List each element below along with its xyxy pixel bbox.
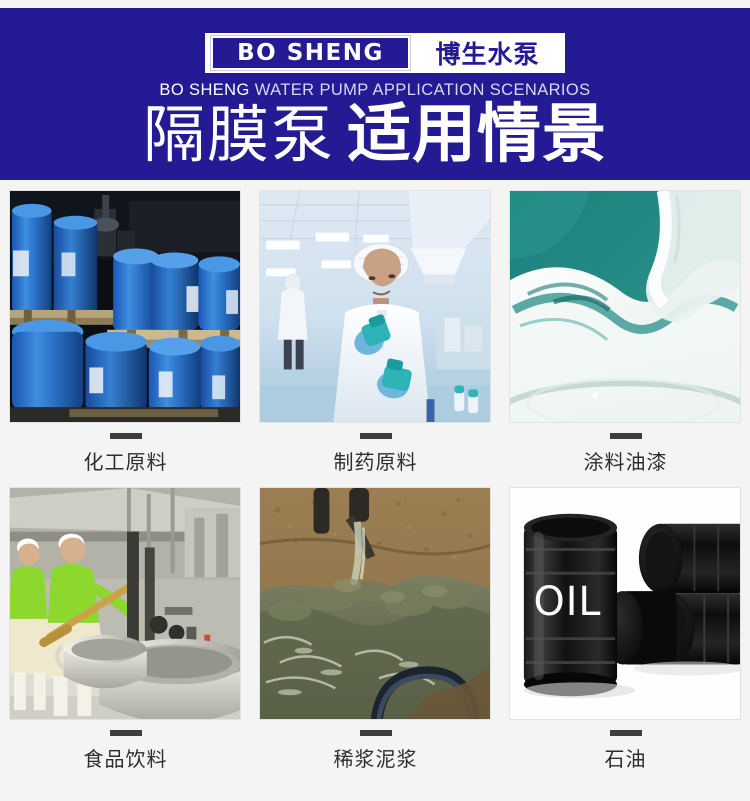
scenario-caption: 化工原料 xyxy=(9,446,242,475)
slurry-mud-tank-image xyxy=(259,487,491,720)
scenario-cell-slurry[interactable]: 稀浆泥浆 xyxy=(259,487,492,772)
headline-topic: 适用情景 xyxy=(347,98,607,172)
grid-row: 化工原料 xyxy=(0,190,750,475)
caption-accent-bar xyxy=(360,433,392,439)
application-scenario-grid: 化工原料 xyxy=(0,190,750,772)
caption-accent-bar xyxy=(610,730,642,736)
blue-chemical-drums-warehouse-image xyxy=(9,190,241,423)
headline-product-name: 隔膜泵 xyxy=(143,98,335,171)
scenario-caption: 食品饮料 xyxy=(9,743,242,772)
grid-row: 食品饮料 xyxy=(0,487,750,772)
caption-accent-bar xyxy=(610,433,642,439)
food-beverage-factory-workers-image xyxy=(9,487,241,720)
scenario-cell-food-beverage[interactable]: 食品饮料 xyxy=(9,487,242,772)
scenario-cell-petroleum[interactable]: OIL 石油 xyxy=(509,487,742,772)
caption-accent-bar xyxy=(360,730,392,736)
svg-text:OIL: OIL xyxy=(534,579,602,625)
scenario-caption: 稀浆泥浆 xyxy=(259,743,492,772)
black-oil-barrels-image: OIL xyxy=(509,487,741,720)
banner-subtitle-rest: WATER PUMP APPLICATION SCENARIOS xyxy=(250,81,591,99)
scenario-caption: 涂料油漆 xyxy=(509,446,742,475)
banner-headline: 隔膜泵适用情景 xyxy=(0,103,750,167)
teal-paint-swirl-image xyxy=(509,190,741,423)
logo-english-wrap: BO SHENG xyxy=(205,33,410,73)
header-banner: BO SHENG 博生水泵 BO SHENG WATER PUMP APPLIC… xyxy=(0,8,750,180)
pharmaceutical-worker-cleanroom-image xyxy=(259,190,491,423)
logo-chinese-text: 博生水泵 xyxy=(410,33,565,73)
caption-accent-bar xyxy=(110,433,142,439)
scenario-cell-chemical[interactable]: 化工原料 xyxy=(9,190,242,475)
scenario-caption: 石油 xyxy=(509,743,742,772)
product-banner-page: BO SHENG 博生水泵 BO SHENG WATER PUMP APPLIC… xyxy=(0,0,750,801)
scenario-cell-pharmaceutical[interactable]: 制药原料 xyxy=(259,190,492,475)
logo-english-text: BO SHENG xyxy=(211,36,410,70)
caption-accent-bar xyxy=(110,730,142,736)
brand-logo: BO SHENG 博生水泵 xyxy=(205,33,565,73)
scenario-caption: 制药原料 xyxy=(259,446,492,475)
scenario-cell-paint[interactable]: 涂料油漆 xyxy=(509,190,742,475)
banner-subtitle-brand: BO SHENG xyxy=(159,81,249,99)
